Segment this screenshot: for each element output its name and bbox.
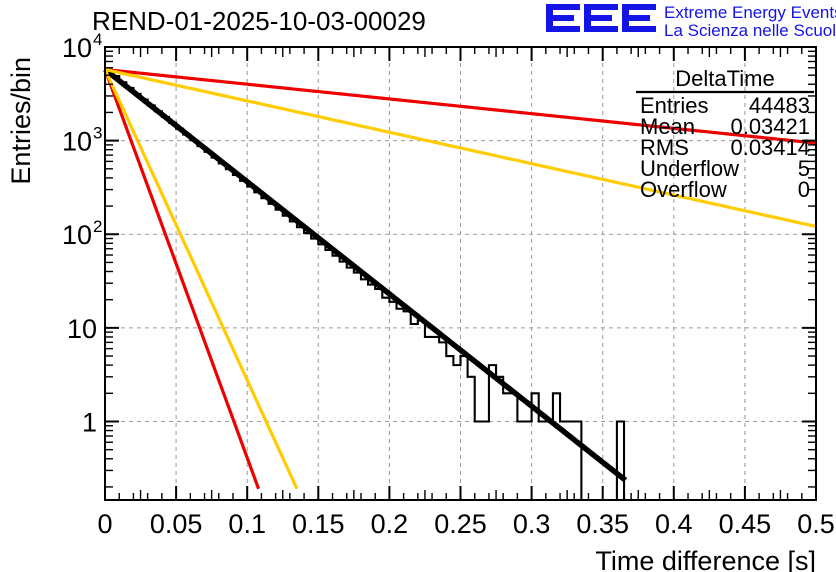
page-title: REND-01-2025-10-03-00029 xyxy=(92,6,426,36)
x-tick-label: 0.3 xyxy=(513,509,551,539)
eee-bar-stem xyxy=(546,4,553,32)
x-tick-label: 0.4 xyxy=(655,509,693,539)
y-tick-label-base: 1 xyxy=(82,407,97,437)
eee-bar-stem xyxy=(584,4,591,32)
y-tick-label-exponent: 4 xyxy=(93,30,102,49)
y-tick-label-exponent: 2 xyxy=(93,217,102,236)
y-tick-label-base: 10 xyxy=(62,127,92,157)
logo-tagline-2: La Scienza nelle Scuole xyxy=(664,21,836,40)
eee-bar-stem xyxy=(622,4,629,32)
x-tick-label: 0.5 xyxy=(797,509,835,539)
x-tick-label: 0.25 xyxy=(434,509,487,539)
y-tick-label-base: 10 xyxy=(62,33,92,63)
eee-logo xyxy=(546,4,656,32)
y-tick-label-exponent: 3 xyxy=(93,124,102,143)
x-tick-label: 0.35 xyxy=(576,509,629,539)
y-tick-label-base: 10 xyxy=(62,220,92,250)
x-tick-label: 0.15 xyxy=(292,509,345,539)
x-tick-label: 0.45 xyxy=(719,509,772,539)
x-axis-title: Time difference [s] xyxy=(595,546,816,572)
stats-row-value: 0 xyxy=(798,177,810,202)
chart-svg: REND-01-2025-10-03-00029Extreme Energy E… xyxy=(0,0,836,572)
plot-canvas: REND-01-2025-10-03-00029Extreme Energy E… xyxy=(0,0,836,572)
y-tick-label-base: 10 xyxy=(67,314,97,344)
y-tick-label: 1 xyxy=(82,407,97,437)
y-axis-title: Entries/bin xyxy=(6,57,36,185)
x-tick-label: 0.2 xyxy=(371,509,409,539)
y-tick-label: 10 xyxy=(67,314,97,344)
stats-row-label: Overflow xyxy=(640,177,727,202)
x-tick-label: 0.1 xyxy=(228,509,266,539)
stats-title: DeltaTime xyxy=(675,66,774,91)
logo-tagline-1: Extreme Energy Events xyxy=(664,3,836,22)
x-tick-label: 0 xyxy=(97,509,112,539)
x-tick-label: 0.05 xyxy=(150,509,203,539)
